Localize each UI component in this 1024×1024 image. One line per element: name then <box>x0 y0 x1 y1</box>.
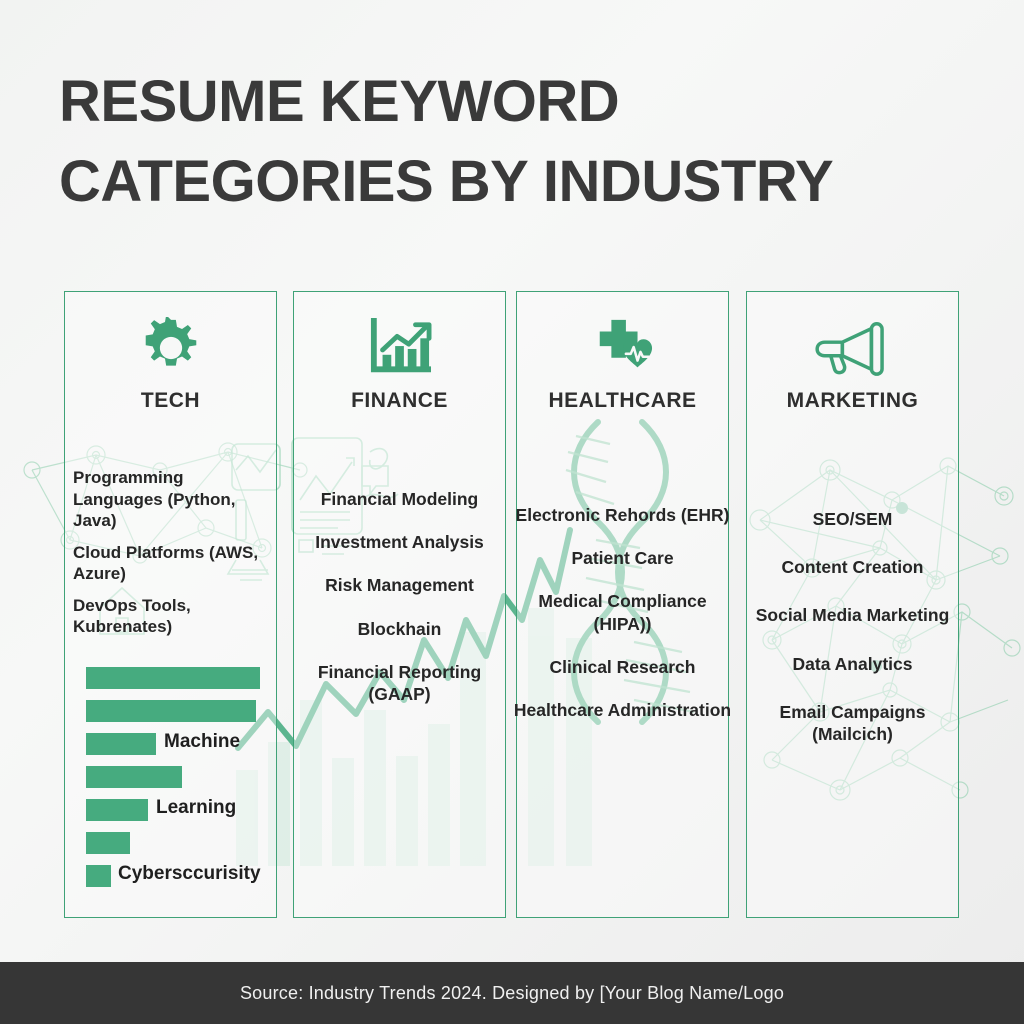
keyword-item: Healthcare Administration <box>511 699 734 721</box>
keyword-item: Risk Management <box>298 574 501 596</box>
footer-bar: Source: Industry Trends 2024. Designed b… <box>0 962 1024 1024</box>
keyword-item: Data Analytics <box>751 653 954 675</box>
keyword-item: Cloud Platforms (AWS, Azure) <box>73 542 268 585</box>
page-title-line-1: RESUME KEYWORD <box>59 69 619 134</box>
keyword-item: SEO/SEM <box>751 508 954 530</box>
page-title-line-2: CATEGORIES BY INDUSTRY <box>59 142 959 222</box>
card-title-tech: TECH <box>65 389 276 413</box>
keyword-list-finance: Financial Modeling Investment Analysis R… <box>298 488 501 726</box>
keyword-item: Content Creation <box>751 556 954 578</box>
tech-keyword-bar-chart: Machine Learning Cybersccurisity <box>86 667 286 882</box>
keyword-item: Programming Languages (Python, Java) <box>73 467 268 532</box>
gear-icon <box>65 312 276 384</box>
bar-label-machine: Machine <box>164 731 240 753</box>
footer-source-text: Source: Industry Trends 2024. Designed b… <box>240 983 784 1004</box>
growth-bar-chart-icon <box>294 312 505 384</box>
infographic-poster: RESUME KEYWORD CATEGORIES BY INDUSTRY <box>0 0 1024 1024</box>
bar-3 <box>86 766 182 788</box>
keyword-item: Financial Reporting (GAAP) <box>298 661 501 705</box>
page-title: RESUME KEYWORD CATEGORIES BY INDUSTRY <box>59 62 959 222</box>
category-card-marketing[interactable]: MARKETING SEO/SEM Content Creation Socia… <box>746 291 959 918</box>
bar-label-cybersccurisity: Cybersccurisity <box>118 863 261 885</box>
card-title-finance: FINANCE <box>294 389 505 413</box>
medical-cross-heart-icon <box>517 312 728 384</box>
keyword-item: Clinical Research <box>511 656 734 678</box>
bar-6 <box>86 865 111 887</box>
bar-1 <box>86 700 256 722</box>
keyword-item: Investment Analysis <box>298 531 501 553</box>
keyword-item: Medical Compliance (HIPA)) <box>511 590 734 634</box>
keyword-item: Electronic Rehords (EHR) <box>511 504 734 526</box>
keyword-item: Blockhain <box>298 618 501 640</box>
keyword-item: Patient Care <box>511 547 734 569</box>
category-card-healthcare[interactable]: HEALTHCARE Electronic Rehords (EHR) Pati… <box>516 291 729 918</box>
bar-label-learning: Learning <box>156 797 236 819</box>
card-title-healthcare: HEALTHCARE <box>517 389 728 413</box>
card-title-marketing: MARKETING <box>747 389 958 413</box>
keyword-item: DevOps Tools, Kubrenates) <box>73 595 268 638</box>
bar-0 <box>86 667 260 689</box>
keyword-item: Financial Modeling <box>298 488 501 510</box>
bar-4 <box>86 799 148 821</box>
keyword-list-healthcare: Electronic Rehords (EHR) Patient Care Me… <box>511 504 734 742</box>
keyword-list-tech: Programming Languages (Python, Java) Clo… <box>73 467 268 648</box>
keyword-list-marketing: SEO/SEM Content Creation Social Media Ma… <box>751 508 954 771</box>
bar-2 <box>86 733 156 755</box>
keyword-item: Email Campaigns (Mailcich) <box>751 701 954 745</box>
keyword-item: Social Media Marketing <box>751 604 954 626</box>
megaphone-icon <box>747 312 958 384</box>
bar-5 <box>86 832 130 854</box>
category-card-finance[interactable]: FINANCE Financial Modeling Investment An… <box>293 291 506 918</box>
